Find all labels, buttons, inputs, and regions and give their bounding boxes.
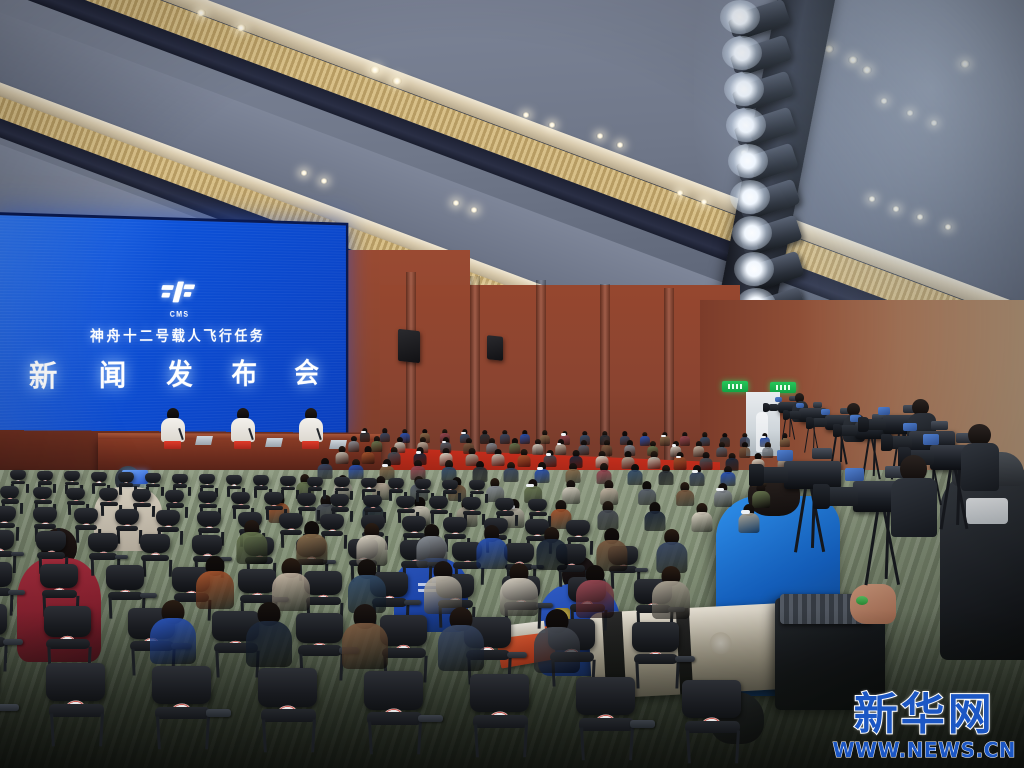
- chair-writing-tablet: [418, 715, 444, 723]
- camera-lens-hood: [858, 417, 869, 433]
- desk-laptop: [195, 436, 213, 445]
- face-mask-icon: [692, 470, 698, 473]
- studio-light-glow: [732, 216, 772, 250]
- chair-back: [330, 494, 349, 507]
- face-mask-icon: [761, 436, 765, 438]
- camera-lens: [760, 467, 788, 484]
- chair-writing-tablet: [8, 590, 24, 595]
- studio-light-glow: [734, 252, 774, 286]
- chair-back: [576, 677, 635, 715]
- press-camera: [826, 470, 942, 596]
- chair-back: [0, 486, 19, 499]
- studio-light-glow: [724, 72, 764, 106]
- chair-legs: [262, 719, 316, 752]
- chair-back: [504, 543, 534, 563]
- camera-lens: [768, 404, 779, 411]
- chair-back: [469, 480, 485, 490]
- audience-torso: [236, 532, 267, 563]
- list-item: [196, 556, 234, 613]
- chair-back: [132, 489, 151, 502]
- camera-monitor-screen: [775, 397, 782, 402]
- panelist-nameplate: [234, 441, 251, 449]
- table-row: [258, 668, 317, 752]
- chair-back: [199, 474, 215, 484]
- chair-legs: [156, 716, 210, 749]
- camera-monitor-screen: [845, 468, 864, 481]
- face-mask-icon: [382, 464, 388, 467]
- chair-writing-tablet: [3, 639, 23, 645]
- list-item: [492, 449, 505, 468]
- chair-back: [44, 606, 91, 637]
- exit-sign-icon: [722, 381, 748, 392]
- list-item: [659, 465, 674, 487]
- audience-torso: [660, 436, 670, 446]
- chair-legs: [368, 722, 422, 755]
- chair-writing-tablet: [115, 555, 128, 559]
- camera-lens-hood: [763, 403, 769, 412]
- list-item: [236, 520, 267, 567]
- camera-lens: [840, 425, 857, 435]
- chair-writing-tablet: [206, 709, 232, 717]
- tripod-leg: [940, 470, 952, 530]
- chair-back: [88, 533, 118, 553]
- chair-writing-tablet: [140, 593, 156, 598]
- audience-torso: [536, 539, 567, 570]
- camera-viewfinder: [812, 448, 832, 459]
- list-item: [438, 607, 484, 676]
- camera-viewfinder: [813, 402, 823, 407]
- chair-back: [156, 510, 180, 526]
- list-item: [348, 436, 360, 453]
- chair-back: [682, 680, 741, 718]
- audience-torso: [532, 444, 544, 455]
- face-mask-icon: [416, 451, 421, 454]
- chair-back: [99, 488, 118, 501]
- chair-back: [334, 477, 350, 487]
- table-row: [115, 509, 139, 543]
- list-item: [150, 600, 196, 669]
- tripod-leg: [865, 512, 880, 585]
- list-item: [652, 566, 690, 623]
- table-row: [576, 677, 635, 761]
- chair-back: [66, 488, 85, 501]
- ceiling-downlight: [616, 142, 624, 148]
- chair-back: [388, 478, 404, 488]
- face-mask-icon: [661, 435, 665, 437]
- table-row: [682, 680, 741, 764]
- audience-torso: [652, 581, 690, 619]
- list-item: [739, 442, 751, 459]
- studio-light-rig: [724, 0, 1024, 340]
- chair-writing-tablet: [507, 652, 527, 658]
- chair-back: [33, 507, 57, 523]
- chair-back: [145, 473, 161, 483]
- ceiling-downlight: [596, 133, 604, 139]
- list-item: [660, 432, 670, 447]
- ceiling-downlight: [196, 9, 206, 17]
- face-mask-icon: [442, 441, 447, 443]
- chair-back: [115, 509, 139, 525]
- chair-back: [0, 604, 7, 635]
- chair-back: [33, 487, 52, 500]
- camera-lens-hood: [783, 410, 790, 421]
- ceiling-downlight: [392, 77, 402, 85]
- table-row: [0, 604, 7, 671]
- camera-viewfinder: [931, 421, 947, 430]
- chair-back: [264, 492, 283, 505]
- audience-torso: [196, 571, 234, 609]
- audience-torso: [504, 468, 519, 482]
- camera-lens: [826, 487, 858, 506]
- audience-torso: [500, 578, 538, 616]
- list-item: [691, 503, 712, 534]
- ceiling-downlight: [452, 200, 460, 206]
- watermark-logo-text: 新华网: [832, 693, 1016, 737]
- face-mask-icon: [676, 456, 681, 459]
- list-item: [246, 602, 292, 671]
- camera-lens-hood: [806, 417, 814, 429]
- camera-monitor-screen: [796, 403, 804, 408]
- chair-writing-tablet: [11, 552, 24, 556]
- camera-lens-hood: [813, 484, 830, 509]
- ceiling-downlight: [522, 112, 530, 118]
- chair-back: [0, 530, 14, 550]
- list-item: [520, 430, 530, 445]
- list-item: [360, 428, 370, 443]
- camera-lens-hood: [833, 424, 842, 438]
- chair-writing-tablet: [635, 568, 648, 572]
- ceiling-downlight: [300, 170, 308, 176]
- face-mask-icon: [537, 467, 543, 470]
- list-item: [518, 449, 531, 468]
- audience-torso: [714, 490, 732, 507]
- chair-back: [40, 564, 78, 589]
- audience-torso: [576, 580, 614, 618]
- chair-writing-tablet: [675, 656, 695, 662]
- audience-torso: [246, 621, 292, 667]
- list-item: [336, 446, 349, 465]
- chair-back: [566, 520, 590, 536]
- chair-back: [106, 565, 144, 590]
- cms-logo-icon: [160, 281, 199, 310]
- face-mask-icon: [741, 510, 750, 514]
- wall-speaker-icon: [487, 335, 503, 361]
- led-subtitle: 神舟十二号载人飞行任务: [0, 325, 346, 346]
- list-item: [576, 565, 614, 622]
- press-conference-photo: CMS 神舟十二号载人飞行任务 新 闻 发 布 会: [0, 0, 1024, 768]
- chair-back: [0, 562, 12, 587]
- chair-back: [363, 495, 382, 508]
- table-row: [152, 666, 211, 750]
- led-title: 新 闻 发 布 会: [0, 350, 346, 396]
- chair-back: [74, 508, 98, 524]
- chair-back: [231, 492, 250, 505]
- list-item: [504, 462, 519, 484]
- face-mask-icon: [461, 432, 465, 434]
- ceiling-downlight: [676, 190, 684, 196]
- chair-back: [258, 668, 317, 706]
- camera-monitor-screen: [821, 409, 830, 415]
- ceiling-downlight: [700, 199, 708, 205]
- audience-torso: [691, 512, 712, 532]
- audience-torso: [342, 623, 388, 669]
- ceiling-downlight: [548, 122, 556, 128]
- chair-writing-tablet: [536, 603, 552, 608]
- chair-back: [253, 475, 269, 485]
- studio-light-glow: [726, 108, 766, 142]
- watermark-url: WWW.NEWS.CN: [832, 740, 1016, 760]
- camera-operator-body: [891, 478, 937, 537]
- list-item: [536, 527, 567, 574]
- chair-back: [192, 535, 222, 555]
- camera-monitor-screen: [878, 407, 890, 415]
- chair-back: [364, 671, 423, 709]
- chair-back: [470, 674, 529, 712]
- camera-lens: [788, 411, 801, 419]
- chair-writing-tablet: [0, 704, 19, 712]
- camera-lens: [812, 418, 827, 427]
- panelist-nameplate: [164, 441, 181, 449]
- audience-torso: [520, 434, 530, 444]
- table-row: [632, 622, 679, 689]
- wall-speaker-icon: [398, 329, 420, 363]
- audience-torso: [438, 625, 484, 671]
- audience-torso: [739, 447, 751, 458]
- camera-monitor-screen: [923, 434, 938, 444]
- audience-torso: [644, 511, 665, 531]
- panelist-nameplate: [302, 441, 319, 449]
- camera-monitor-screen: [777, 450, 794, 461]
- list-item: [532, 439, 544, 456]
- chair-legs: [117, 530, 142, 543]
- ceiling-downlight: [470, 207, 478, 213]
- list-item: [534, 609, 580, 678]
- face-mask-icon: [526, 484, 533, 488]
- list-item: [714, 483, 732, 509]
- audience-torso: [659, 471, 674, 485]
- chair-writing-tablet: [630, 720, 656, 728]
- table-row: [46, 663, 105, 747]
- chair-back: [10, 470, 26, 480]
- chair-back: [429, 496, 448, 509]
- chair-legs: [580, 727, 634, 760]
- chair-legs: [50, 713, 104, 746]
- chair-writing-tablet: [404, 600, 420, 605]
- studio-light-glow: [722, 36, 762, 70]
- chair-back: [415, 479, 431, 489]
- face-mask-icon: [672, 444, 677, 446]
- audience-torso: [518, 455, 531, 467]
- chair-back: [197, 511, 221, 527]
- face-mask-icon: [546, 453, 551, 456]
- audience-torso: [492, 454, 505, 466]
- chair-legs: [142, 560, 172, 577]
- face-mask-icon: [361, 431, 365, 433]
- chair-back: [64, 471, 80, 481]
- camera-operator-body: [961, 443, 999, 491]
- studio-light-glow: [730, 180, 770, 214]
- chair-back: [118, 472, 134, 482]
- audience-torso: [674, 457, 687, 469]
- audience-torso: [336, 452, 349, 464]
- camera-lens-hood: [749, 464, 764, 486]
- chair-legs: [635, 662, 679, 688]
- face-mask-icon: [716, 488, 723, 492]
- fingernail: [856, 596, 868, 605]
- chair-back: [528, 499, 547, 512]
- xinhua-watermark: 新华网 WWW.NEWS.CN: [832, 693, 1016, 760]
- audience-torso: [534, 627, 580, 673]
- list-item: [500, 563, 538, 620]
- chair-back: [280, 476, 296, 486]
- chair-back: [165, 490, 184, 503]
- chair-back: [396, 496, 415, 509]
- ceiling-downlight: [370, 66, 380, 74]
- face-mask-icon: [561, 433, 565, 435]
- table-row: [364, 671, 423, 755]
- chair-back: [36, 531, 66, 551]
- chair-back: [0, 506, 16, 522]
- chair-back: [296, 613, 343, 644]
- studio-light-glow: [720, 0, 760, 34]
- audience-torso: [360, 432, 370, 442]
- camera-lens-hood: [881, 434, 893, 452]
- chair-back: [198, 491, 217, 504]
- ceiling-downlight: [236, 24, 246, 32]
- chair-back: [297, 493, 316, 506]
- chair-back: [152, 666, 211, 704]
- list-item: [342, 604, 388, 673]
- chair-legs: [474, 725, 528, 758]
- cms-logo-label: CMS: [0, 309, 346, 319]
- tripod-leg: [794, 489, 807, 553]
- list-item: [738, 504, 759, 535]
- table-row: [470, 674, 529, 758]
- audience-torso: [348, 441, 360, 452]
- camera-monitor-screen: [903, 423, 916, 432]
- chair-legs: [0, 645, 7, 671]
- camera-lens: [866, 419, 886, 431]
- chair-back: [632, 622, 679, 653]
- chair-back: [140, 534, 170, 554]
- chair-back: [238, 569, 276, 594]
- desk-laptop: [265, 438, 283, 447]
- studio-light-glow: [728, 144, 768, 178]
- chair-back: [462, 497, 481, 510]
- table-row: [140, 534, 170, 577]
- chair-back: [495, 498, 514, 511]
- list-item: [674, 452, 687, 471]
- audience-torso: [150, 618, 196, 664]
- face-mask-icon: [557, 443, 562, 445]
- chair-legs: [686, 730, 740, 763]
- ceiling-downlight: [320, 178, 328, 184]
- audience-torso: [738, 513, 759, 533]
- chair-back: [46, 663, 105, 701]
